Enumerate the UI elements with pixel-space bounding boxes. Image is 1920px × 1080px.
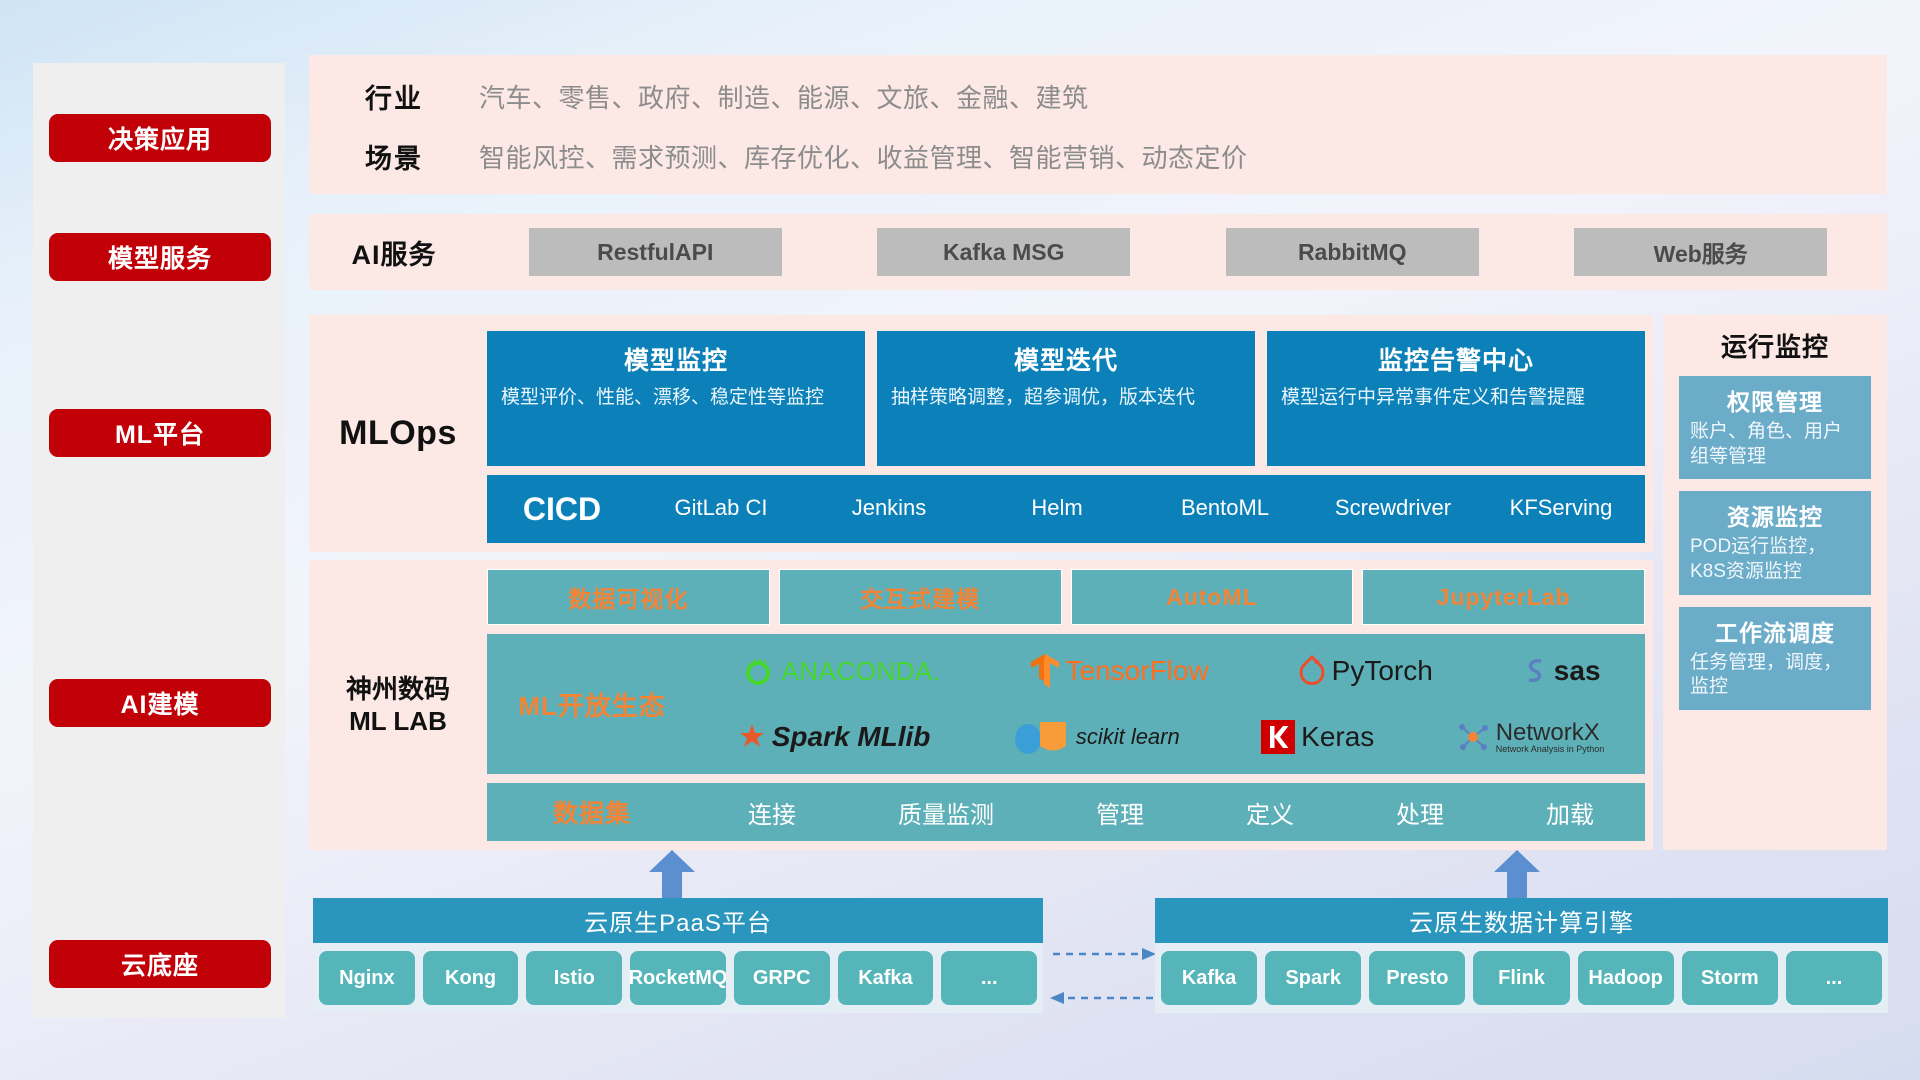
- card-title: 资源监控: [1690, 498, 1860, 532]
- monitor-card-permission[interactable]: 权限管理 账户、角色、用户组等管理: [1679, 376, 1871, 479]
- paas-chip-nginx[interactable]: Nginx: [319, 951, 415, 1005]
- card-title: 模型监控: [501, 341, 851, 377]
- dataset-item-define[interactable]: 定义: [1246, 795, 1294, 830]
- sidebar-item-label: 云底座: [121, 946, 199, 982]
- industry-value: 汽车、零售、政府、制造、能源、文旅、金融、建筑: [479, 78, 1089, 115]
- ai-service-button-web-service[interactable]: Web服务: [1574, 228, 1827, 276]
- networkx-graph-icon: [1456, 721, 1490, 753]
- ml-lab-tool-row: 数据可视化 交互式建模 AutoML JupyterLab: [487, 569, 1645, 625]
- sas-icon: [1522, 656, 1548, 686]
- scikit-learn-logo: scikit learn: [1012, 719, 1180, 755]
- networkx-logo-subtitle: Network Analysis in Python: [1496, 745, 1605, 754]
- paas-chip-more[interactable]: ...: [941, 951, 1037, 1005]
- spark-mllib-logo-text: Spark MLlib: [772, 721, 931, 753]
- data-engine-group: 云原生数据计算引擎 Kafka Spark Presto Flink Hadoo…: [1155, 898, 1888, 1013]
- card-title: 权限管理: [1690, 383, 1860, 417]
- ml-logo-row-1: ANACONDA. TensorFlow: [697, 640, 1645, 702]
- mlops-panel: MLOps 模型监控 模型评价、性能、漂移、稳定性等监控 模型迭代 抽样策略调整…: [309, 315, 1653, 552]
- mlops-card-alert-center[interactable]: 监控告警中心 模型运行中异常事件定义和告警提醒: [1267, 331, 1645, 466]
- card-desc: 模型评价、性能、漂移、稳定性等监控: [501, 385, 851, 411]
- cicd-item-bentoml[interactable]: BentoML: [1141, 496, 1309, 536]
- scenario-value: 智能风控、需求预测、库存优化、收益管理、智能营销、动态定价: [479, 138, 1248, 175]
- ml-logo-grid: ANACONDA. TensorFlow: [697, 634, 1645, 774]
- data-engine-chip-storm[interactable]: Storm: [1682, 951, 1778, 1005]
- paas-chip-tray: Nginx Kong Istio RocketMQ GRPC Kafka ...: [313, 943, 1043, 1013]
- dataset-item-manage[interactable]: 管理: [1096, 795, 1144, 830]
- spark-star-icon: [738, 722, 766, 752]
- ml-lab-label-line2: ML LAB: [349, 705, 447, 738]
- dataset-item-process[interactable]: 处理: [1396, 795, 1444, 830]
- pytorch-logo-text: PyTorch: [1332, 655, 1433, 687]
- dataset-row: 数据集 连接 质量监测 管理 定义 处理 加载: [487, 783, 1645, 841]
- sidebar-item-ml-platform[interactable]: ML平台: [49, 409, 271, 457]
- ml-lab-content: 数据可视化 交互式建模 AutoML JupyterLab ML开放生态 ANA…: [487, 569, 1645, 841]
- cicd-item-kfserving[interactable]: KFServing: [1477, 496, 1645, 536]
- bidirectional-dashed-link-icon: [1048, 940, 1158, 1012]
- scikit-learn-logo-text: scikit learn: [1076, 724, 1180, 750]
- sidebar-item-label: ML平台: [115, 415, 205, 451]
- ai-service-label: AI服务: [319, 233, 469, 272]
- data-engine-chip-presto[interactable]: Presto: [1369, 951, 1465, 1005]
- scikit-learn-icon: [1012, 719, 1070, 755]
- paas-platform-group: 云原生PaaS平台 Nginx Kong Istio RocketMQ GRPC…: [313, 898, 1043, 1013]
- ai-service-button-rabbitmq[interactable]: RabbitMQ: [1226, 228, 1479, 276]
- layer-sidebar: 决策应用 模型服务 ML平台 AI建模 云底座: [33, 63, 285, 1018]
- data-engine-chip-spark[interactable]: Spark: [1265, 951, 1361, 1005]
- card-title: 模型迭代: [891, 341, 1241, 377]
- data-engine-chip-kafka[interactable]: Kafka: [1161, 951, 1257, 1005]
- card-title: 工作流调度: [1690, 614, 1860, 648]
- data-engine-chip-flink[interactable]: Flink: [1473, 951, 1569, 1005]
- ai-service-button-kafka-msg[interactable]: Kafka MSG: [877, 228, 1130, 276]
- keras-logo-text: Keras: [1301, 721, 1374, 753]
- cicd-item-group: GitLab CI Jenkins Helm BentoML Screwdriv…: [637, 482, 1645, 536]
- pytorch-icon: [1298, 654, 1326, 688]
- ml-ecosystem-label: ML开放生态: [487, 686, 697, 723]
- cicd-title: CICD: [487, 491, 637, 528]
- cicd-item-gitlab-ci[interactable]: GitLab CI: [637, 496, 805, 536]
- sas-logo-text: sas: [1554, 655, 1601, 687]
- card-title: 监控告警中心: [1281, 341, 1631, 377]
- keras-icon: [1261, 720, 1295, 754]
- networkx-logo-text: NetworkX: [1496, 721, 1605, 745]
- data-engine-chip-more[interactable]: ...: [1786, 951, 1882, 1005]
- cicd-bar: CICD GitLab CI Jenkins Helm BentoML Scre…: [487, 475, 1645, 543]
- run-monitor-title: 运行监控: [1663, 327, 1887, 364]
- paas-up-arrow-icon: [649, 850, 695, 900]
- paas-chip-rocketmq[interactable]: RocketMQ: [630, 951, 726, 1005]
- cicd-item-jenkins[interactable]: Jenkins: [805, 496, 973, 536]
- tool-automl[interactable]: AutoML: [1071, 569, 1354, 625]
- mlops-card-model-monitoring[interactable]: 模型监控 模型评价、性能、漂移、稳定性等监控: [487, 331, 865, 466]
- dataset-item-load[interactable]: 加载: [1546, 795, 1594, 830]
- anaconda-logo-text: ANACONDA.: [781, 656, 940, 687]
- sidebar-item-ai-modeling[interactable]: AI建模: [49, 679, 271, 727]
- data-engine-up-arrow-icon: [1494, 850, 1540, 900]
- spark-mllib-logo: Spark MLlib: [738, 721, 931, 753]
- tool-data-visualization[interactable]: 数据可视化: [487, 569, 770, 625]
- card-desc: 账户、角色、用户组等管理: [1690, 420, 1860, 469]
- paas-chip-kong[interactable]: Kong: [423, 951, 519, 1005]
- tensorflow-logo-text: TensorFlow: [1066, 655, 1209, 687]
- anaconda-icon: [741, 654, 775, 688]
- dataset-item-group: 连接 质量监测 管理 定义 处理 加载: [697, 795, 1645, 830]
- data-engine-chip-tray: Kafka Spark Presto Flink Hadoop Storm ..…: [1155, 943, 1888, 1013]
- mlops-label: MLOps: [309, 315, 487, 552]
- run-monitor-panel: 运行监控 权限管理 账户、角色、用户组等管理 资源监控 POD运行监控，K8S资…: [1663, 315, 1887, 850]
- paas-chip-grpc[interactable]: GRPC: [734, 951, 830, 1005]
- sidebar-item-label: 决策应用: [108, 120, 212, 156]
- paas-chip-istio[interactable]: Istio: [526, 951, 622, 1005]
- architecture-diagram: 决策应用 模型服务 ML平台 AI建模 云底座 行业 汽车、零售、政府、制造、能…: [0, 0, 1920, 1080]
- ml-lab-label: 神州数码 ML LAB: [309, 560, 487, 850]
- monitor-card-workflow[interactable]: 工作流调度 任务管理，调度，监控: [1679, 607, 1871, 710]
- ai-service-button-restfulapi[interactable]: RestfulAPI: [529, 228, 782, 276]
- paas-chip-kafka[interactable]: Kafka: [838, 951, 934, 1005]
- data-engine-chip-hadoop[interactable]: Hadoop: [1578, 951, 1674, 1005]
- sidebar-item-label: AI建模: [120, 685, 199, 721]
- dataset-label: 数据集: [487, 794, 697, 830]
- keras-logo: Keras: [1261, 720, 1374, 754]
- anaconda-logo: ANACONDA.: [741, 654, 940, 688]
- ml-lab-panel: 神州数码 ML LAB 数据可视化 交互式建模 AutoML JupyterLa…: [309, 560, 1653, 850]
- data-engine-title: 云原生数据计算引擎: [1155, 898, 1888, 943]
- ml-lab-label-line1: 神州数码: [346, 673, 450, 706]
- sas-logo: sas: [1522, 655, 1601, 687]
- scenario-row: 场景 智能风控、需求预测、库存优化、收益管理、智能营销、动态定价: [334, 137, 1248, 176]
- networkx-logo: NetworkX Network Analysis in Python: [1456, 721, 1605, 754]
- card-desc: 模型运行中异常事件定义和告警提醒: [1281, 385, 1631, 411]
- paas-platform-title: 云原生PaaS平台: [313, 898, 1043, 943]
- sidebar-item-model-service[interactable]: 模型服务: [49, 233, 271, 281]
- ai-service-panel: AI服务 RestfulAPI Kafka MSG RabbitMQ Web服务: [309, 214, 1887, 290]
- tensorflow-icon: [1030, 653, 1060, 689]
- dataset-item-quality-monitor[interactable]: 质量监测: [898, 795, 994, 830]
- tensorflow-logo: TensorFlow: [1030, 653, 1209, 689]
- mlops-card-group: 模型监控 模型评价、性能、漂移、稳定性等监控 模型迭代 抽样策略调整，超参调优，…: [487, 331, 1645, 466]
- cicd-item-helm[interactable]: Helm: [973, 496, 1141, 536]
- tool-jupyterlab[interactable]: JupyterLab: [1362, 569, 1645, 625]
- tool-interactive-modeling[interactable]: 交互式建模: [779, 569, 1062, 625]
- industry-label: 行业: [334, 77, 454, 116]
- industry-scenario-panel: 行业 汽车、零售、政府、制造、能源、文旅、金融、建筑 场景 智能风控、需求预测、…: [309, 55, 1887, 194]
- industry-row: 行业 汽车、零售、政府、制造、能源、文旅、金融、建筑: [334, 77, 1089, 116]
- sidebar-item-label: 模型服务: [108, 239, 212, 275]
- ml-ecosystem-row: ML开放生态 ANACONDA.: [487, 634, 1645, 774]
- card-desc: 任务管理，调度，监控: [1690, 651, 1860, 700]
- ai-service-button-group: RestfulAPI Kafka MSG RabbitMQ Web服务: [469, 228, 1887, 276]
- pytorch-logo: PyTorch: [1298, 654, 1433, 688]
- ml-logo-row-2: Spark MLlib scikit learn: [697, 706, 1645, 768]
- sidebar-item-cloud-base[interactable]: 云底座: [49, 940, 271, 988]
- monitor-card-resource[interactable]: 资源监控 POD运行监控，K8S资源监控: [1679, 491, 1871, 594]
- dataset-item-connect[interactable]: 连接: [748, 795, 796, 830]
- scenario-label: 场景: [334, 137, 454, 176]
- cicd-item-screwdriver[interactable]: Screwdriver: [1309, 496, 1477, 536]
- card-desc: 抽样策略调整，超参调优，版本迭代: [891, 385, 1241, 411]
- mlops-card-model-iteration[interactable]: 模型迭代 抽样策略调整，超参调优，版本迭代: [877, 331, 1255, 466]
- card-desc: POD运行监控，K8S资源监控: [1690, 535, 1860, 584]
- sidebar-item-decision-app[interactable]: 决策应用: [49, 114, 271, 162]
